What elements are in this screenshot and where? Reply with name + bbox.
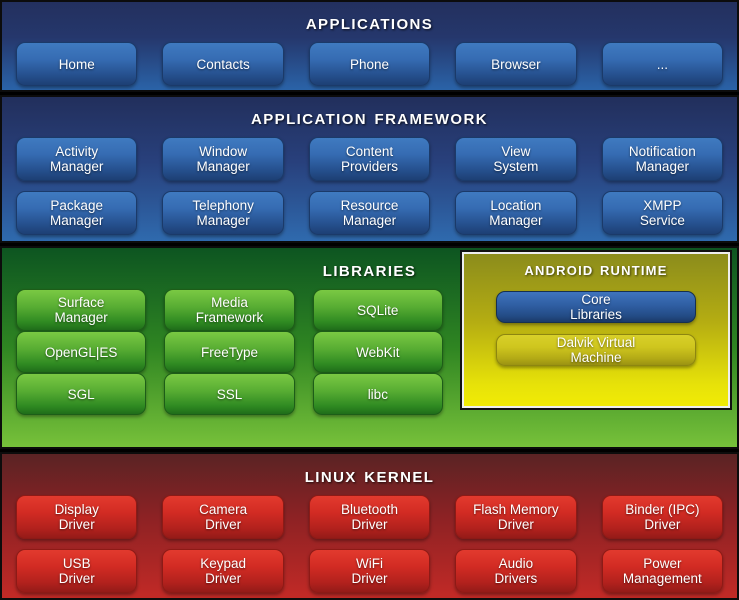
node-contacts[interactable]: Contacts bbox=[162, 42, 283, 86]
node-usb-driver[interactable]: USBDriver bbox=[16, 549, 137, 593]
node-home[interactable]: Home bbox=[16, 42, 137, 86]
node-xmpp-service[interactable]: XMPPService bbox=[602, 191, 723, 235]
node-telephony-manager[interactable]: TelephonyManager bbox=[162, 191, 283, 235]
node-freetype[interactable]: FreeType bbox=[164, 331, 294, 373]
layer-title-applications: Applications bbox=[2, 2, 737, 33]
node-content-providers[interactable]: ContentProviders bbox=[309, 137, 430, 181]
node-bluetooth-driver[interactable]: BluetoothDriver bbox=[309, 495, 430, 539]
node-ssl[interactable]: SSL bbox=[164, 373, 294, 415]
libraries-grid: SurfaceManager MediaFramework SQLite Ope… bbox=[2, 280, 457, 415]
libraries-row-2: OpenGL|ES FreeType WebKit bbox=[16, 331, 443, 373]
node-activity-manager[interactable]: ActivityManager bbox=[16, 137, 137, 181]
android-runtime-wrapper: Android Runtime CoreLibraries Dalvik Vir… bbox=[457, 280, 737, 410]
node-phone[interactable]: Phone bbox=[309, 42, 430, 86]
kernel-row-2: USBDriver KeypadDriver WiFiDriver AudioD… bbox=[16, 549, 723, 593]
node-binder-ipc-driver[interactable]: Binder (IPC)Driver bbox=[602, 495, 723, 539]
node-sgl[interactable]: SGL bbox=[16, 373, 146, 415]
node-audio-drivers[interactable]: AudioDrivers bbox=[455, 549, 576, 593]
node-more-applications[interactable]: ... bbox=[602, 42, 723, 86]
node-resource-manager[interactable]: ResourceManager bbox=[309, 191, 430, 235]
node-sqlite[interactable]: SQLite bbox=[313, 289, 443, 331]
node-browser[interactable]: Browser bbox=[455, 42, 576, 86]
node-wifi-driver[interactable]: WiFiDriver bbox=[309, 549, 430, 593]
node-dalvik-virtual-machine[interactable]: Dalvik VirtualMachine bbox=[496, 334, 696, 366]
framework-row-1: ActivityManager WindowManager ContentPro… bbox=[16, 137, 723, 181]
node-flash-memory-driver[interactable]: Flash MemoryDriver bbox=[455, 495, 576, 539]
layer-title-application-framework: Application Framework bbox=[2, 97, 737, 128]
node-core-libraries[interactable]: CoreLibraries bbox=[496, 291, 696, 323]
kernel-row-1: DisplayDriver CameraDriver BluetoothDriv… bbox=[16, 495, 723, 539]
layer-title-linux-kernel: Linux Kernel bbox=[2, 454, 737, 486]
node-webkit[interactable]: WebKit bbox=[313, 331, 443, 373]
layer-libraries: Libraries SurfaceManager MediaFramework … bbox=[0, 246, 739, 449]
node-media-framework[interactable]: MediaFramework bbox=[164, 289, 294, 331]
layer-application-framework: Application Framework ActivityManager Wi… bbox=[0, 95, 739, 243]
panel-android-runtime: Android Runtime CoreLibraries Dalvik Vir… bbox=[460, 250, 732, 410]
node-surface-manager[interactable]: SurfaceManager bbox=[16, 289, 146, 331]
framework-row-2: PackageManager TelephonyManager Resource… bbox=[16, 191, 723, 235]
libraries-row-3: SGL SSL libc bbox=[16, 373, 443, 415]
node-notification-manager[interactable]: NotificationManager bbox=[602, 137, 723, 181]
android-runtime-nodes: CoreLibraries Dalvik VirtualMachine bbox=[462, 279, 730, 366]
kernel-rows: DisplayDriver CameraDriver BluetoothDriv… bbox=[2, 486, 737, 593]
layer-applications: Applications Home Contacts Phone Browser… bbox=[0, 0, 739, 92]
applications-rows: Home Contacts Phone Browser ... bbox=[2, 33, 737, 86]
node-camera-driver[interactable]: CameraDriver bbox=[162, 495, 283, 539]
libraries-body: SurfaceManager MediaFramework SQLite Ope… bbox=[2, 280, 737, 415]
node-location-manager[interactable]: LocationManager bbox=[455, 191, 576, 235]
node-power-management[interactable]: PowerManagement bbox=[602, 549, 723, 593]
node-display-driver[interactable]: DisplayDriver bbox=[16, 495, 137, 539]
node-libc[interactable]: libc bbox=[313, 373, 443, 415]
node-view-system[interactable]: ViewSystem bbox=[455, 137, 576, 181]
framework-rows: ActivityManager WindowManager ContentPro… bbox=[2, 128, 737, 235]
applications-row: Home Contacts Phone Browser ... bbox=[16, 42, 723, 86]
android-architecture-diagram: Applications Home Contacts Phone Browser… bbox=[0, 0, 739, 600]
layer-title-android-runtime: Android Runtime bbox=[462, 260, 730, 279]
node-window-manager[interactable]: WindowManager bbox=[162, 137, 283, 181]
libraries-row-1: SurfaceManager MediaFramework SQLite bbox=[16, 289, 443, 331]
node-opengl-es[interactable]: OpenGL|ES bbox=[16, 331, 146, 373]
layer-linux-kernel: Linux Kernel DisplayDriver CameraDriver … bbox=[0, 452, 739, 600]
node-package-manager[interactable]: PackageManager bbox=[16, 191, 137, 235]
node-keypad-driver[interactable]: KeypadDriver bbox=[162, 549, 283, 593]
